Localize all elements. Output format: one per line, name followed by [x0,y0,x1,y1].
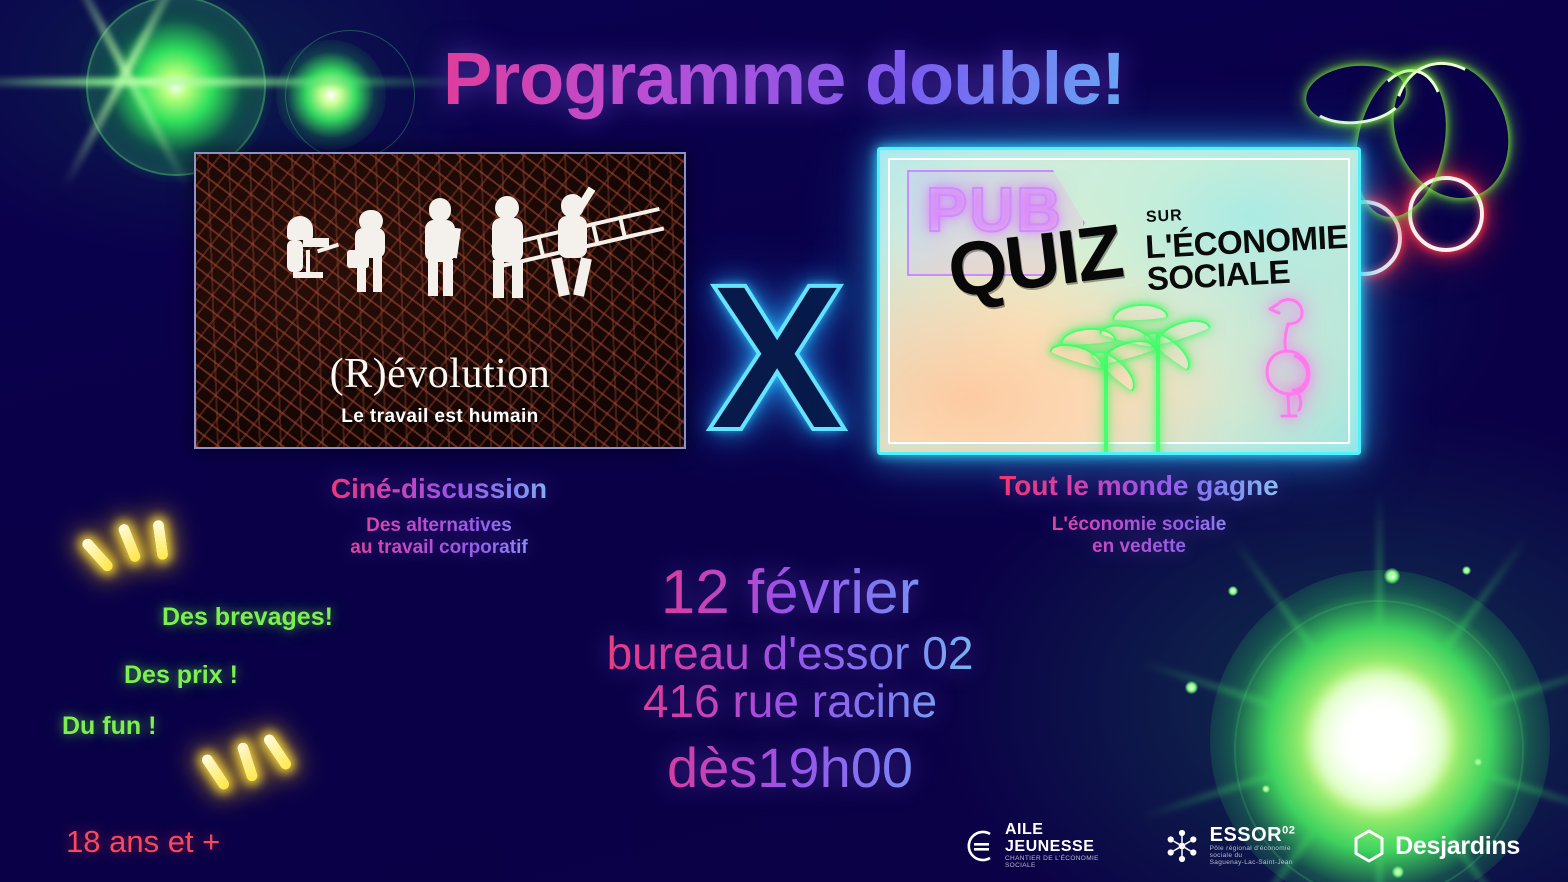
sun-spike-icon [1141,737,1381,821]
dash-icon [200,752,231,791]
sun-spike-icon [1377,536,1530,742]
event-street: 416 rue racine [480,677,1100,725]
logo-aile-jeunesse[interactable]: AILE JEUNESSE CHANTIER DE L'ÉCONOMIE SOC… [960,822,1119,869]
sponsor-logo-bar: AILE JEUNESSE CHANTIER DE L'ÉCONOMIE SOC… [960,818,1520,874]
dash-icon [236,741,259,782]
logo-desjardins[interactable]: Desjardins [1352,828,1520,864]
cherry-right-icon [1408,176,1484,252]
event-date: 12 février [480,560,1100,625]
quiz-sur-label: SUR [1146,207,1184,227]
film-title: (R)évolution [196,350,684,398]
perk-item-1: Des prix ! [124,661,238,690]
palm-tree-right-icon [1098,294,1228,455]
logo-essor-tagline-line2: Saguenay-Lac-Saint-Jean [1210,860,1309,867]
logo-essor-text: ESSOR02 Pôle régional d'économie sociale… [1210,825,1309,866]
dash-icon [152,519,168,560]
age-restriction-label: 18 ans et + [66,824,220,860]
c-circle-icon [960,828,996,864]
event-venue: bureau d'essor 02 [480,629,1100,677]
quiz-caption-subtitle: L'économie sociale en vedette [934,514,1344,558]
figure-ladder-carrier-icon [477,194,539,329]
logo-essor-tagline-line1: Pôle régional d'économie sociale du [1210,846,1309,860]
dash-icon [117,522,142,563]
logo-essor-name: ESSOR02 [1210,825,1309,846]
perk-item-2: Du fun ! [62,712,156,741]
quiz-topic-label: L'ÉCONOMIE SOCIALE [1144,221,1350,296]
sun-spike-icon [1141,659,1381,743]
figure-celebrating-worker-icon [545,194,607,329]
sparkle-icon [1185,681,1198,694]
logo-essor-word: ESSOR [1210,824,1283,846]
people-network-icon [1163,827,1201,865]
film-poster-card[interactable]: (R)évolution Le travail est humain [194,152,686,449]
page-title: Programme double! [0,36,1568,121]
logo-essor-superscript: 02 [1282,825,1295,837]
event-details-block: 12 février bureau d'essor 02 416 rue rac… [480,560,1100,801]
event-time: dès19h00 [480,734,1100,801]
logo-aile-tagline: CHANTIER DE L'ÉCONOMIE SOCIALE [1005,856,1119,870]
logo-aile-text: AILE JEUNESSE CHANTIER DE L'ÉCONOMIE SOC… [1005,822,1119,869]
x-separator-icon: X [712,250,842,465]
dash-icon [262,732,293,771]
sparkle-icon [1384,568,1400,584]
event-poster: Programme double! [0,0,1568,882]
perk-item-0: Des brevages! [162,603,333,632]
sparkle-icon [1262,785,1270,793]
film-subtitle: Le travail est humain [196,406,684,428]
sun-spike-icon [1230,536,1383,742]
palm-tree-left-icon [1052,320,1172,455]
dash-icon [80,536,115,573]
sparkle-icon [1462,566,1471,575]
quiz-poster-card[interactable]: PUB [877,147,1361,455]
sun-spike-icon [1376,490,1383,740]
film-caption-sub-line2: au travail corporatif [350,537,527,558]
sparkle-icon [1228,586,1238,596]
neon-flamingo-icon [1250,290,1324,425]
figure-desk-worker-icon [273,194,335,329]
logo-desjardins-text: Desjardins [1395,833,1520,859]
quiz-caption-sub-line1: L'économie sociale [1052,514,1227,535]
quiz-topic-line2: SOCIALE [1146,253,1291,297]
film-caption-title: Ciné-discussion [254,473,624,505]
quiz-caption-sub-line2: en vedette [1092,536,1186,557]
figure-briefcase-worker-icon [341,194,403,329]
sun-spike-icon [1378,659,1568,743]
film-caption-sub-line1: Des alternatives [366,515,512,536]
quiz-caption-title: Tout le monde gagne [934,470,1344,502]
sparkle-icon [1474,758,1482,766]
sun-spike-icon [1378,737,1568,821]
logo-aile-name: AILE JEUNESSE [1005,822,1119,856]
worker-evolution-silhouettes-icon [196,194,684,329]
hexagon-icon [1352,828,1386,864]
sun-core-icon [1308,668,1452,812]
logo-desjardins-name: Desjardins [1395,833,1520,859]
film-caption-subtitle: Des alternatives au travail corporatif [254,515,624,559]
logo-essor02[interactable]: ESSOR02 Pôle régional d'économie sociale… [1163,825,1309,866]
figure-standing-worker-icon [409,194,471,329]
